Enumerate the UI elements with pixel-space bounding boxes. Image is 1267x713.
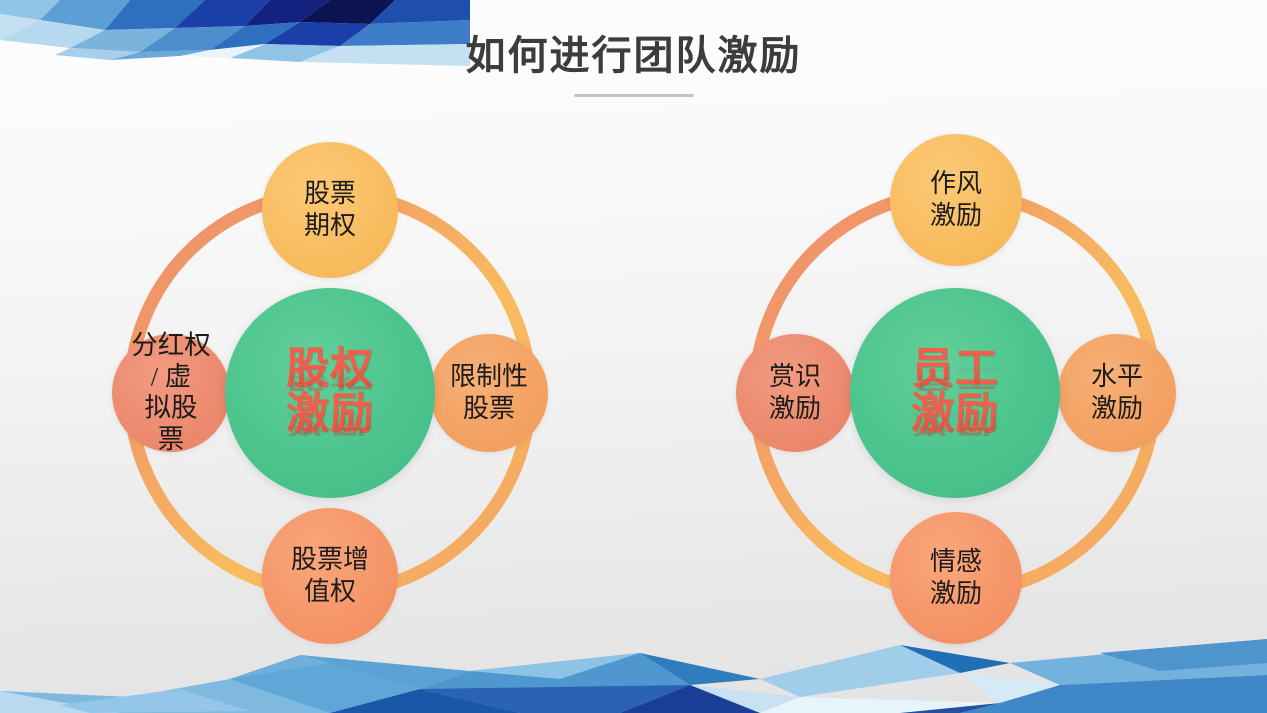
hub-label-line-2: 激励	[286, 393, 374, 436]
page-title: 如何进行团队激励	[0, 34, 1267, 78]
node-left[interactable]: 赏识 激励	[736, 334, 854, 452]
hub-label-group: 股权 激励	[286, 348, 374, 438]
diagram-equity-incentive: 股票 期权 限制性 股票 股票增 值权 分红权 / 虚 拟股 票 股权 激励	[115, 178, 545, 608]
hub-label-line-1: 股权	[286, 348, 374, 391]
node-right-label: 水平 激励	[1058, 361, 1176, 424]
node-left[interactable]: 分红权 / 虚 拟股 票	[112, 334, 230, 452]
presentation-slide: 如何进行团队激励 股票 期权 限制性 股票 股票增 值权	[0, 0, 1267, 713]
node-top[interactable]: 作风 激励	[890, 134, 1022, 266]
hub-label-line-2: 激励	[911, 393, 999, 436]
node-left-label: 赏识 激励	[736, 361, 854, 424]
node-bottom[interactable]: 股票增 值权	[262, 508, 398, 644]
node-top-label: 作风 激励	[890, 168, 1022, 231]
node-top[interactable]: 股票 期权	[262, 142, 398, 278]
hub-label-group: 员工 激励	[911, 348, 999, 438]
node-right[interactable]: 限制性 股票	[430, 334, 548, 452]
hub-employee-incentive[interactable]: 员工 激励	[850, 288, 1060, 498]
node-top-label: 股票 期权	[262, 178, 398, 241]
title-block: 如何进行团队激励	[0, 34, 1267, 97]
node-right[interactable]: 水平 激励	[1058, 334, 1176, 452]
hub-equity-incentive[interactable]: 股权 激励	[225, 288, 435, 498]
diagram-employee-incentive: 作风 激励 水平 激励 情感 激励 赏识 激励 员工 激励	[740, 178, 1170, 608]
node-bottom-label: 情感 激励	[890, 546, 1022, 609]
node-left-label: 分红权 / 虚 拟股 票	[108, 330, 233, 455]
bottom-decoration-icon	[0, 593, 1267, 713]
node-bottom[interactable]: 情感 激励	[890, 512, 1022, 644]
title-divider	[574, 94, 694, 97]
hub-label-line-1: 员工	[911, 348, 999, 391]
node-right-label: 限制性 股票	[430, 361, 548, 424]
node-bottom-label: 股票增 值权	[262, 544, 398, 607]
